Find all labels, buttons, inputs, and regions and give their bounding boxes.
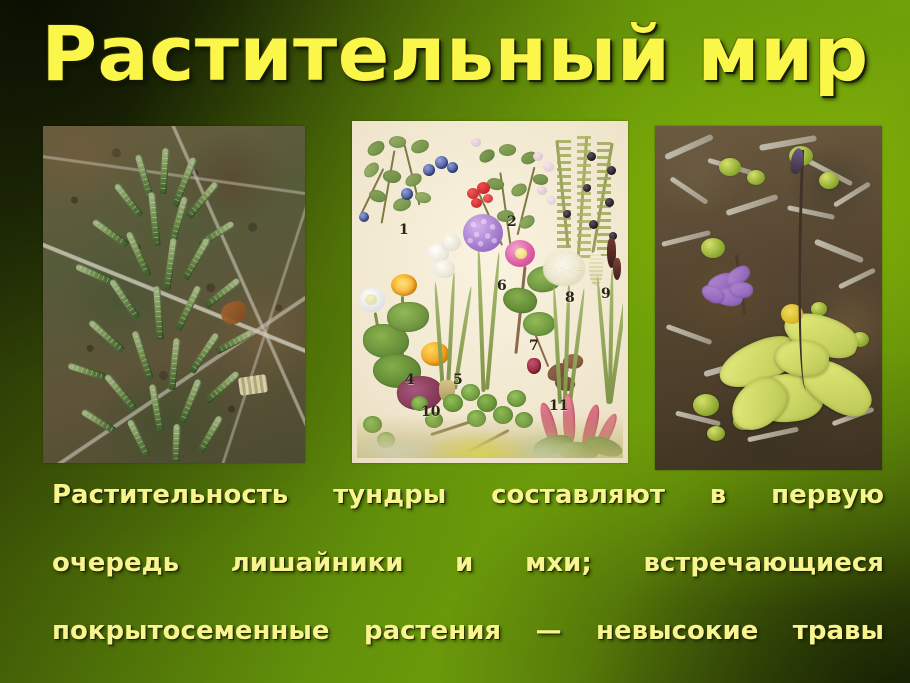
plate-number-8: 8 [565,290,575,306]
plate-content: 1 [357,126,623,458]
moss-ground-layer [357,414,623,458]
plate-number-9: 9 [601,286,611,302]
image-tundra-lichen-photo [43,126,305,463]
caption-line-1: Растительность тундры составляют в перву… [52,478,884,546]
photo-right-scene [655,126,882,470]
plate-number-7: 7 [529,338,539,354]
plate-number-4: 4 [405,372,415,388]
plate-number-5: 5 [453,372,463,388]
plate-number-11: 11 [549,398,568,414]
page-title: Растительный мир [0,8,910,100]
image-botanical-plate: 1 [352,121,628,463]
plate-number-1: 1 [399,222,409,238]
image-butterwort-photo [655,126,882,470]
caption-line-2: очередь лишайники и мхи; встречающиеся [52,546,884,614]
caption-text: Растительность тундры составляют в перву… [52,478,884,683]
plate-number-2: 2 [507,214,517,230]
lichen-patch [238,374,268,396]
slide: Растительный мир [0,0,910,683]
caption-line-3: покрытосеменные растения — невысокие тра… [52,614,884,682]
photo-left-scene [43,126,305,463]
